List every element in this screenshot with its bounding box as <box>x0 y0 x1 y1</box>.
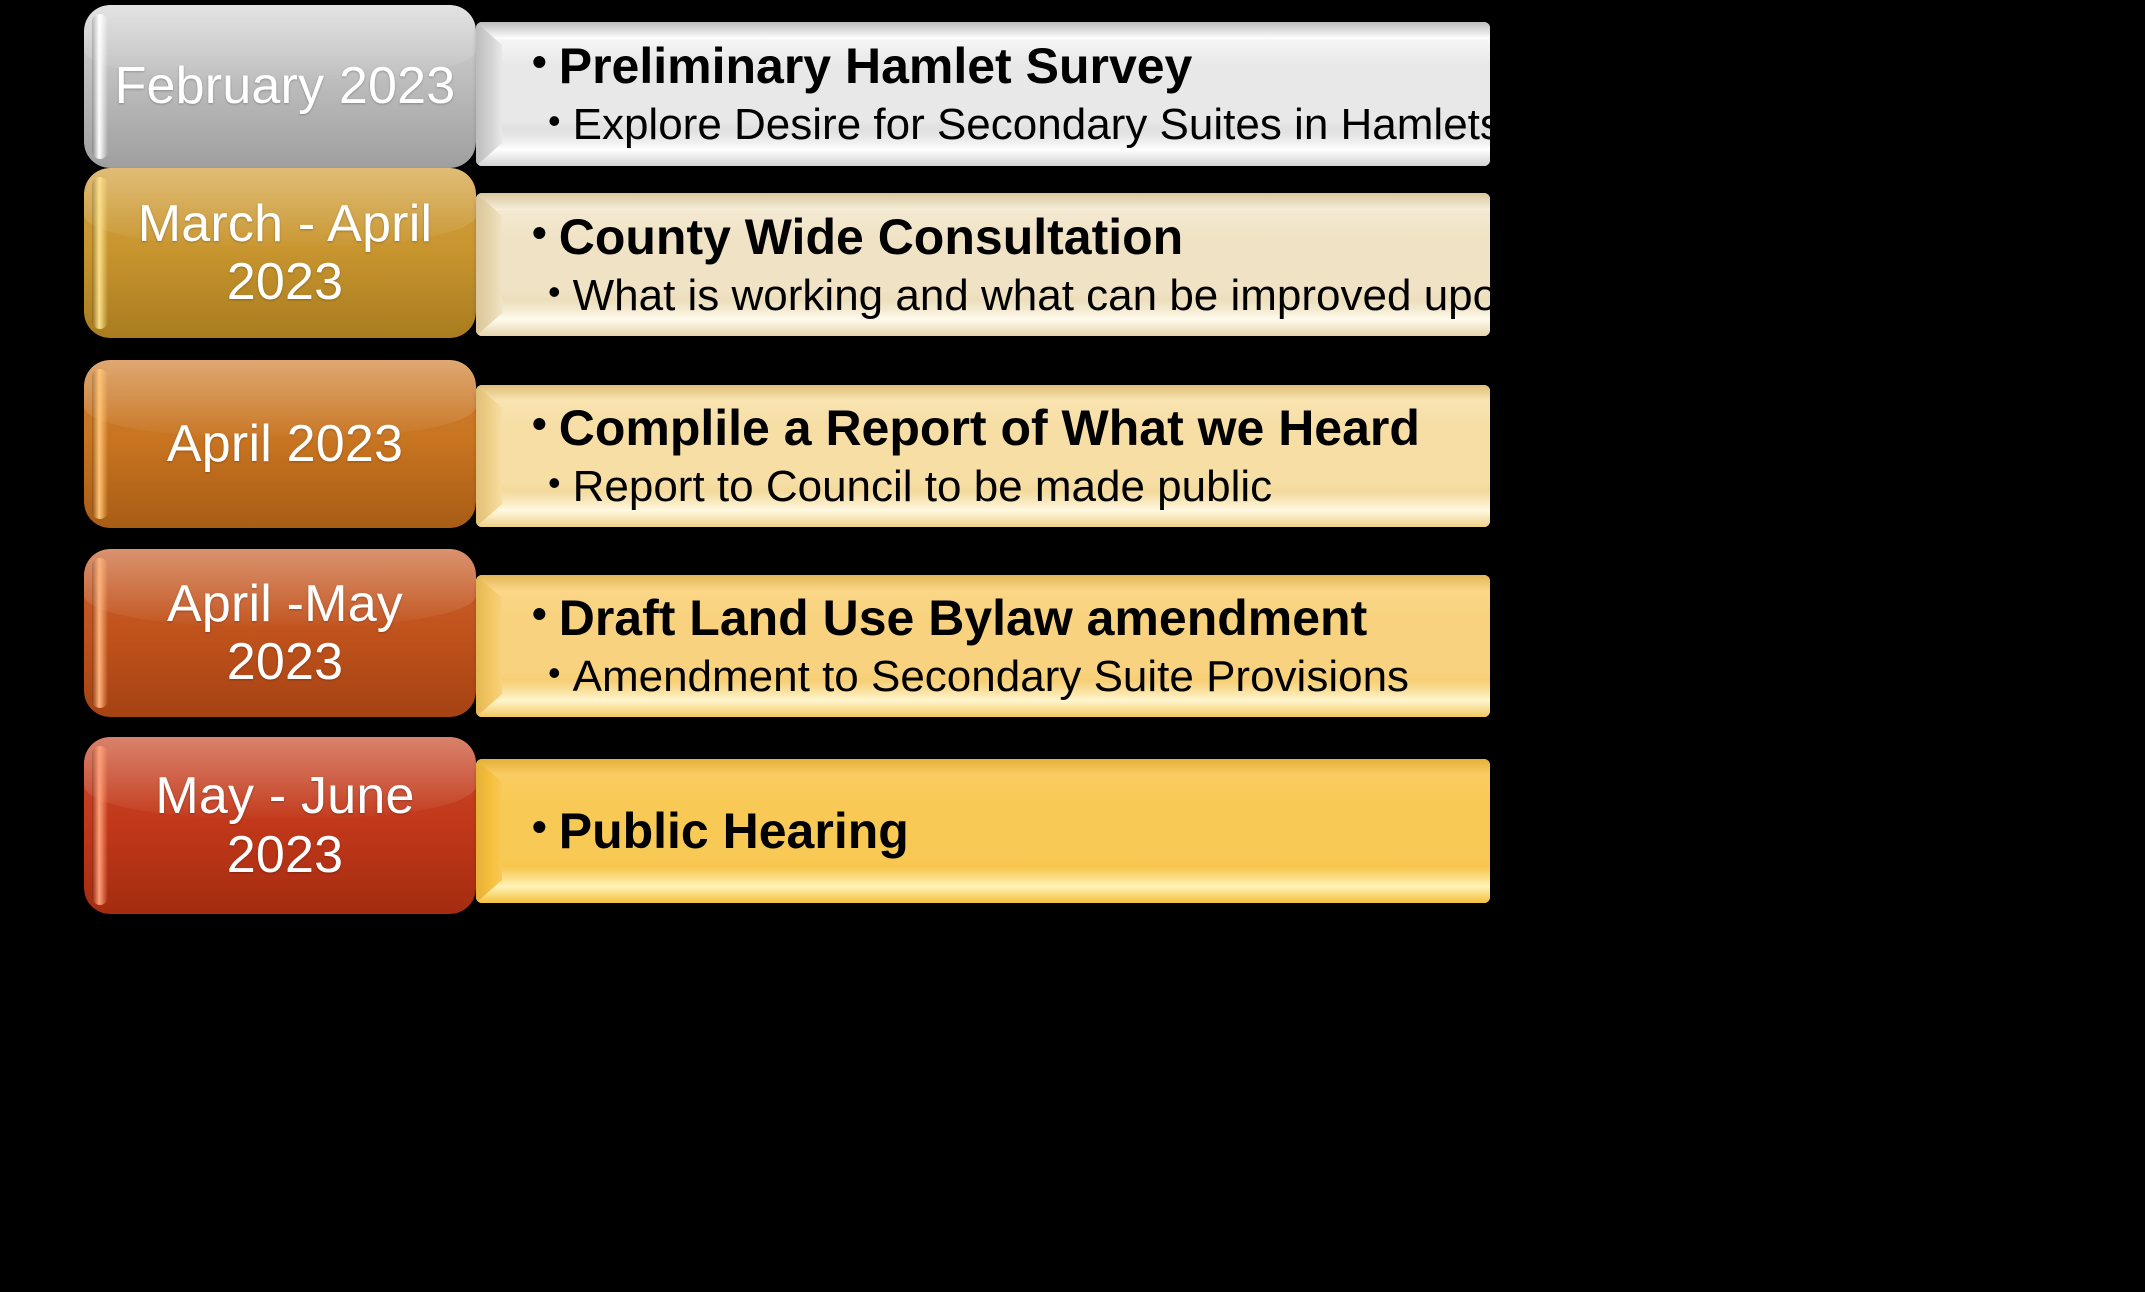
timeline-period-chip: May - June 2023 <box>84 737 476 914</box>
timeline-content-panel: •Complile a Report of What we Heard•Repo… <box>476 385 1490 527</box>
panel-text-body: •Public Hearing <box>476 759 1490 903</box>
timeline-period-chip: March - April 2023 <box>84 168 476 338</box>
primary-bullet-text: County Wide Consultation <box>559 208 1184 266</box>
bullet-dot-icon: • <box>532 806 547 848</box>
primary-bullet: •Preliminary Hamlet Survey <box>532 37 1472 95</box>
secondary-bullet-text: What is working and what can be improved… <box>573 270 1490 322</box>
timeline-content-panel: •County Wide Consultation•What is workin… <box>476 193 1490 336</box>
timeline-period-label: April 2023 <box>141 415 419 473</box>
primary-bullet-text: Draft Land Use Bylaw amendment <box>559 589 1368 647</box>
secondary-bullet: •Explore Desire for Secondary Suites in … <box>548 99 1472 151</box>
primary-bullet-text: Public Hearing <box>559 802 909 860</box>
timeline-period-chip: February 2023 <box>84 5 476 168</box>
panel-text-body: •Preliminary Hamlet Survey•Explore Desir… <box>476 22 1490 166</box>
timeline-period-label: February 2023 <box>89 57 472 115</box>
bullet-dot-icon: • <box>548 274 561 310</box>
timeline-period-chip: April 2023 <box>84 360 476 528</box>
primary-bullet-text: Preliminary Hamlet Survey <box>559 37 1193 95</box>
secondary-bullet: •Report to Council to be made public <box>548 461 1472 513</box>
secondary-bullet: •Amendment to Secondary Suite Provisions <box>548 651 1472 703</box>
primary-bullet: •Public Hearing <box>532 802 1472 860</box>
panel-text-body: •Draft Land Use Bylaw amendment•Amendmen… <box>476 575 1490 717</box>
timeline-content-panel: •Preliminary Hamlet Survey•Explore Desir… <box>476 22 1490 166</box>
bullet-dot-icon: • <box>548 103 561 139</box>
bullet-dot-icon: • <box>532 41 547 83</box>
primary-bullet: •Complile a Report of What we Heard <box>532 399 1472 457</box>
timeline-content-panel: •Public Hearing <box>476 759 1490 903</box>
process-timeline-diagram: February 2023•Preliminary Hamlet Survey•… <box>0 0 2145 1292</box>
timeline-period-label: May - June 2023 <box>129 767 430 883</box>
timeline-period-label: March - April 2023 <box>112 195 448 311</box>
secondary-bullet-text: Amendment to Secondary Suite Provisions <box>573 651 1409 703</box>
timeline-period-chip: April -May 2023 <box>84 549 476 717</box>
primary-bullet: •County Wide Consultation <box>532 208 1472 266</box>
bullet-dot-icon: • <box>548 655 561 691</box>
panel-text-body: •Complile a Report of What we Heard•Repo… <box>476 385 1490 527</box>
timeline-content-panel: •Draft Land Use Bylaw amendment•Amendmen… <box>476 575 1490 717</box>
secondary-bullet-text: Report to Council to be made public <box>573 461 1273 513</box>
primary-bullet: •Draft Land Use Bylaw amendment <box>532 589 1472 647</box>
panel-text-body: •County Wide Consultation•What is workin… <box>476 193 1490 336</box>
primary-bullet-text: Complile a Report of What we Heard <box>559 399 1420 457</box>
bullet-dot-icon: • <box>548 465 561 501</box>
timeline-period-label: April -May 2023 <box>84 575 476 691</box>
bullet-dot-icon: • <box>532 403 547 445</box>
bullet-dot-icon: • <box>532 593 547 635</box>
secondary-bullet-text: Explore Desire for Secondary Suites in H… <box>573 99 1490 151</box>
secondary-bullet: •What is working and what can be improve… <box>548 270 1472 322</box>
bullet-dot-icon: • <box>532 212 547 254</box>
